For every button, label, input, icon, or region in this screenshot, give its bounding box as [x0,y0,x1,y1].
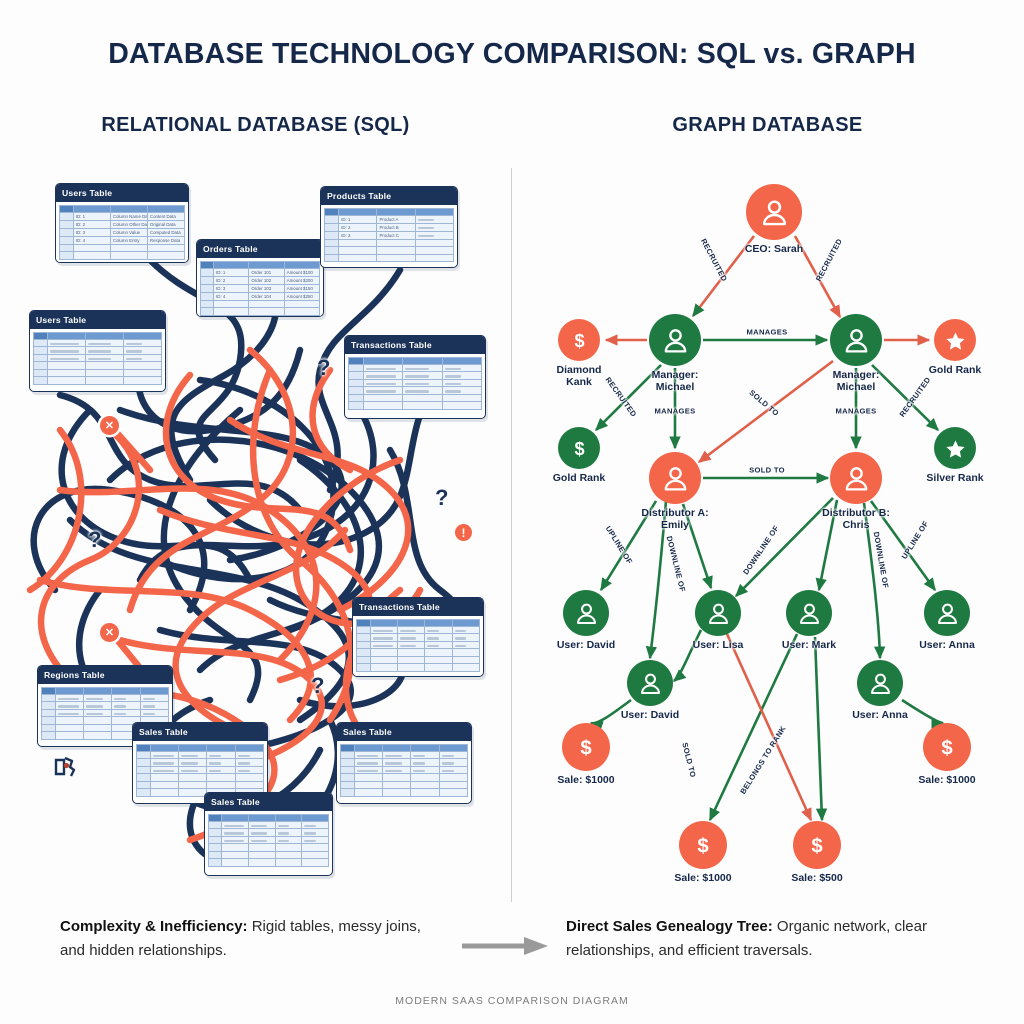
table-cell-placeholder [224,825,244,827]
table-row [325,247,454,255]
table-cell-placeholder [50,358,79,360]
table-row [357,656,480,664]
table-row [209,859,329,867]
sql-table-grid [348,357,482,410]
table-cell-placeholder [366,375,396,377]
graph-node-label: User: Anna [919,639,975,651]
table-row [209,844,329,852]
diagram-canvas: DATABASE TECHNOLOGY COMPARISON: SQL vs. … [0,0,1024,1024]
svg-text:$: $ [574,331,584,351]
sql-table-card: Transactions Table [352,597,484,677]
sql-table-card: Sales Table [336,722,472,804]
table-row: ID: 3Order 103Amount $150 [201,284,320,292]
graph-node-label: User: Lisa [693,639,744,651]
table-cell-placeholder [445,390,462,392]
table-row: ID: 3Column ValueComputed Data [60,228,185,236]
footer-sublabel: MODERN SAAS COMPARISON DIAGRAM [0,995,1024,1007]
table-row [137,774,264,782]
table-cell-placeholder [114,705,126,707]
table-row [209,836,329,844]
table-row [34,347,162,355]
table-cell-placeholder [455,637,467,639]
sql-table-title: Orders Table [197,240,323,258]
star-icon [934,427,976,469]
dollar-icon: $ [923,723,971,771]
svg-text:$: $ [697,835,708,857]
table-cell-placeholder [357,770,378,772]
table-cell-value: ID: 1 [214,269,248,276]
sql-table-grid: ID: 1Product AID: 2Product BID: 3Product… [324,208,454,263]
dollar-icon: $ [679,821,727,869]
table-row [209,851,329,859]
table-cell-placeholder [143,705,155,707]
table-cell-value: Column Other Data [111,221,147,228]
table-cell-placeholder [304,840,315,842]
table-cell-placeholder [58,705,79,707]
table-cell-placeholder [366,390,396,392]
broken-join-x-icon: ✕ [100,623,119,642]
sql-table-title: Users Table [56,184,188,202]
question-mark-icon: ? [311,673,324,699]
table-cell-placeholder [445,375,462,377]
table-row [349,379,482,387]
table-cell-placeholder [304,825,315,827]
table-cell-placeholder [427,645,439,647]
table-row [209,821,329,829]
table-cell-placeholder [385,762,402,764]
graph-node[interactable]: Distributor A:Emily [649,452,701,504]
table-cell-placeholder [442,755,454,757]
table-cell-placeholder [405,368,429,370]
caption-left: Complexity & Inefficiency: Rigid tables,… [60,915,450,963]
table-cell-placeholder [238,762,250,764]
table-cell-value: ID: 2 [339,224,376,231]
sql-table-title: Sales Table [337,723,471,741]
table-cell-placeholder [278,832,289,834]
table-row [341,751,468,759]
table-cell-placeholder [126,350,142,352]
table-row [357,626,480,634]
table-cell-placeholder [251,825,267,827]
table-row [349,364,482,372]
table-cell-placeholder [373,637,394,639]
table-row [357,664,480,672]
sql-table-title: Sales Table [205,793,332,811]
sql-table-grid [356,619,480,672]
table-cell-placeholder [400,645,416,647]
table-cell-value: Order 103 [249,285,283,292]
arrow-right-icon [462,935,550,962]
table-cell-value: Computed Data [148,229,184,236]
table-cell-value: Product B [377,224,414,231]
person-icon [786,590,832,636]
person-icon [746,184,802,240]
table-cell-placeholder [251,832,267,834]
broken-link-icon [54,756,78,783]
table-cell-placeholder [405,390,429,392]
graph-edge-label: MANAGES [655,407,696,416]
table-row [42,702,169,710]
graph-node-label: CEO: Sarah [745,243,803,255]
graph-node[interactable]: $Sale: $1000 [679,821,727,869]
graph-node-label: User: Anna [852,709,908,721]
graph-node-label: Gold Rank [929,364,982,376]
table-cell-value: Column Value [111,229,147,236]
table-cell-placeholder [366,368,396,370]
table-cell-placeholder [455,645,467,647]
table-row [325,254,454,262]
table-row: ID: 4Order 104Amount $250 [201,292,320,300]
table-cell-value: ID: 2 [74,221,110,228]
table-cell-placeholder [455,630,467,632]
graph-node-label: Sale: $1000 [557,774,614,786]
table-row [341,789,468,797]
table-cell-value: Amount $100 [285,269,319,276]
table-row [42,694,169,702]
graph-node-label: User: David [621,709,679,721]
table-cell-placeholder [278,825,289,827]
graph-node-label: DiamondKank [557,364,602,388]
graph-node[interactable]: Manager:Michael [649,314,701,366]
dollar-icon: $ [558,427,600,469]
graph-node[interactable]: User: Anna [857,660,903,706]
table-cell-placeholder [418,219,434,221]
svg-text:$: $ [941,737,952,759]
graph-node[interactable]: $Sale: $500 [793,821,841,869]
table-row [349,372,482,380]
table-row [34,339,162,347]
table-cell-placeholder [385,755,402,757]
question-mark-icon: ? [435,485,448,511]
sql-table-title: Transactions Table [345,336,485,354]
table-cell-placeholder [209,755,221,757]
table-cell-placeholder [153,762,174,764]
table-cell-placeholder [224,832,244,834]
table-cell-placeholder [50,343,79,345]
table-cell-value: Response Data [148,237,184,244]
graph-node[interactable]: Gold Rank [934,319,976,361]
table-cell-placeholder [181,755,198,757]
table-row: ID: 2Product B [325,223,454,231]
table-row [137,759,264,767]
table-row: ID: 2Column Other DataOriginal Data [60,220,185,228]
sql-table-card: Products TableID: 1Product AID: 2Product… [320,186,458,268]
person-icon [924,590,970,636]
table-cell-placeholder [209,762,221,764]
table-cell-placeholder [88,343,111,345]
table-cell-placeholder [58,698,79,700]
table-cell-value: Original Data [148,221,184,228]
table-cell-placeholder [88,350,111,352]
sql-panel-title: RELATIONAL DATABASE (SQL) [0,114,511,137]
table-cell-placeholder [385,770,402,772]
table-row: ID: 1Order 101Amount $100 [201,268,320,276]
table-cell-placeholder [357,755,378,757]
table-cell-placeholder [58,713,79,715]
graph-node[interactable]: Distributor B:Chris [830,452,882,504]
graph-node[interactable]: $Gold Rank [558,427,600,469]
table-cell-value: ID: 3 [214,285,248,292]
table-cell-value: Order 104 [249,293,283,300]
graph-node-label: User: Mark [782,639,836,651]
table-row [325,239,454,247]
sql-table-grid [33,332,162,385]
table-cell-placeholder [143,713,155,715]
table-cell-placeholder [251,840,267,842]
graph-node-label: Silver Rank [926,472,983,484]
graph-node[interactable]: User: Anna [924,590,970,636]
graph-node[interactable]: $Sale: $1000 [923,723,971,771]
table-row [209,829,329,837]
table-cell-placeholder [278,840,289,842]
table-row [34,369,162,377]
table-cell-value: ID: 2 [214,277,248,284]
dollar-icon: $ [558,319,600,361]
graph-database-panel: CEO: SarahManager:MichaelManager:Michael… [511,160,1024,910]
table-cell-placeholder [126,358,142,360]
table-cell-value: ID: 3 [339,232,376,239]
sql-table-card: Transactions Table [344,335,486,419]
sql-table-grid: ID: 1Column Name DataContent DataID: 2Co… [59,205,185,260]
sql-table-title: Products Table [321,187,457,205]
table-cell-placeholder [357,762,378,764]
table-cell-placeholder [304,832,315,834]
graph-edge-label: MANAGES [747,328,788,337]
table-cell-placeholder [413,770,425,772]
graph-node-label: Manager:Michael [652,369,699,393]
relational-database-panel: Users TableID: 1Column Name DataContent … [0,160,511,910]
graph-node[interactable]: Manager:Michael [830,314,882,366]
table-cell-placeholder [86,705,103,707]
graph-edge-label: MANAGES [836,407,877,416]
table-cell-placeholder [400,630,416,632]
person-icon [649,452,701,504]
graph-node[interactable]: User: David [627,660,673,706]
table-cell-value: Product A [377,216,414,223]
table-cell-value: Amount $250 [285,293,319,300]
table-row [341,774,468,782]
table-cell-placeholder [442,770,454,772]
table-cell-placeholder [181,770,198,772]
star-icon [934,319,976,361]
sql-table-grid [340,744,468,797]
person-icon [563,590,609,636]
table-cell-placeholder [400,637,416,639]
table-cell-placeholder [427,637,439,639]
table-cell-value: ID: 4 [74,237,110,244]
table-cell-placeholder [366,383,396,385]
sql-table-title: Regions Table [38,666,172,684]
graph-node-label: Distributor A:Emily [641,507,708,531]
page-title: DATABASE TECHNOLOGY COMPARISON: SQL vs. … [0,38,1024,71]
table-cell-placeholder [405,375,429,377]
sql-table-card: Users Table [29,310,166,392]
table-row [137,781,264,789]
person-icon [830,314,882,366]
table-row [349,402,482,410]
table-row: ID: 1Product A [325,215,454,223]
table-cell-value: Content Data [148,213,184,220]
sql-table-title: Users Table [30,311,165,329]
graph-node[interactable]: User: Lisa [695,590,741,636]
dollar-icon: $ [562,723,610,771]
svg-text:$: $ [574,439,584,459]
table-cell-placeholder [445,368,462,370]
sql-table-card: Sales Table [204,792,333,876]
dollar-icon: $ [793,821,841,869]
graph-node[interactable]: $Sale: $1000 [562,723,610,771]
sql-table-title: Transactions Table [353,598,483,616]
caption-left-bold: Complexity & Inefficiency: [60,918,248,935]
table-row: ID: 3Product C [325,231,454,239]
table-cell-placeholder [373,645,394,647]
table-cell-placeholder [153,755,174,757]
table-row [137,751,264,759]
table-cell-value: Order 101 [249,269,283,276]
table-cell-value: ID: 1 [339,216,376,223]
table-cell-placeholder [442,762,454,764]
graph-node-label: Sale: $500 [791,872,842,884]
table-cell-placeholder [86,698,103,700]
table-cell-placeholder [86,713,103,715]
person-icon [857,660,903,706]
broken-join-x-icon: ✕ [100,416,119,435]
table-row [357,649,480,657]
graph-panel-title: GRAPH DATABASE [511,114,1024,137]
caption-right: Direct Sales Genealogy Tree: Organic net… [566,915,986,963]
table-row [201,308,320,316]
sql-table-title: Sales Table [133,723,267,741]
table-row: ID: 4Column EntryResponse Data [60,236,185,244]
table-cell-placeholder [445,383,462,385]
graph-edge-label: SOLD TO [749,466,785,475]
person-icon [830,452,882,504]
table-cell-placeholder [413,755,425,757]
table-row [341,766,468,774]
table-cell-placeholder [418,227,434,229]
person-icon [695,590,741,636]
graph-node[interactable]: $DiamondKank [558,319,600,361]
graph-node[interactable]: Silver Rank [934,427,976,469]
svg-text:$: $ [811,835,822,857]
table-cell-placeholder [114,713,126,715]
graph-node-label: Distributor B:Chris [822,507,890,531]
table-row [349,394,482,402]
table-cell-placeholder [418,235,434,237]
warning-icon: ! [455,524,472,541]
table-cell-placeholder [209,770,221,772]
sql-table-grid [208,814,329,867]
graph-node-label: Sale: $1000 [674,872,731,884]
table-cell-value: Order 102 [249,277,283,284]
svg-text:$: $ [580,737,591,759]
graph-node-label: User: David [557,639,615,651]
table-row [60,252,185,260]
question-mark-icon: ? [317,355,330,381]
graph-node-label: Gold Rank [553,472,606,484]
table-row [34,377,162,385]
table-cell-value: Column Name Data [111,213,147,220]
table-row [137,766,264,774]
table-cell-value: Amount $150 [285,285,319,292]
table-row [60,244,185,252]
table-cell-placeholder [88,358,111,360]
table-cell-placeholder [405,383,429,385]
table-cell-placeholder [114,698,126,700]
graph-node[interactable]: User: David [563,590,609,636]
person-icon [649,314,701,366]
table-cell-value: ID: 4 [214,293,248,300]
table-row [357,634,480,642]
table-row [34,362,162,370]
sql-table-grid: ID: 1Order 101Amount $100ID: 2Order 102A… [200,261,320,316]
table-cell-placeholder [238,755,250,757]
table-row [341,759,468,767]
graph-node-label: Sale: $1000 [918,774,975,786]
caption-right-bold: Direct Sales Genealogy Tree: [566,918,773,935]
table-cell-placeholder [153,770,174,772]
graph-node[interactable]: User: Mark [786,590,832,636]
table-cell-value: ID: 1 [74,213,110,220]
sql-table-grid [136,744,264,797]
table-row [42,709,169,717]
question-mark-icon: ? [88,527,101,553]
table-cell-placeholder [50,350,79,352]
table-cell-placeholder [143,698,155,700]
table-row: ID: 2Order 102Amount $200 [201,276,320,284]
table-cell-value: Column Entry [111,237,147,244]
person-icon [627,660,673,706]
table-cell-value: ID: 3 [74,229,110,236]
table-row [341,781,468,789]
table-cell-placeholder [224,840,244,842]
table-cell-placeholder [373,630,394,632]
table-row [34,354,162,362]
table-cell-value: Amount $200 [285,277,319,284]
table-cell-placeholder [181,762,198,764]
table-cell-placeholder [238,770,250,772]
table-cell-placeholder [413,762,425,764]
table-cell-value: Product C [377,232,414,239]
table-cell-placeholder [126,343,142,345]
sql-table-card: Users TableID: 1Column Name DataContent … [55,183,189,263]
graph-node-label: Manager:Michael [833,369,880,393]
table-cell-placeholder [427,630,439,632]
table-row: ID: 1Column Name DataContent Data [60,212,185,220]
table-row [357,641,480,649]
sql-table-card: Orders TableID: 1Order 101Amount $100ID:… [196,239,324,317]
graph-node[interactable]: CEO: Sarah [746,184,802,240]
table-row [201,300,320,308]
table-row [349,387,482,395]
